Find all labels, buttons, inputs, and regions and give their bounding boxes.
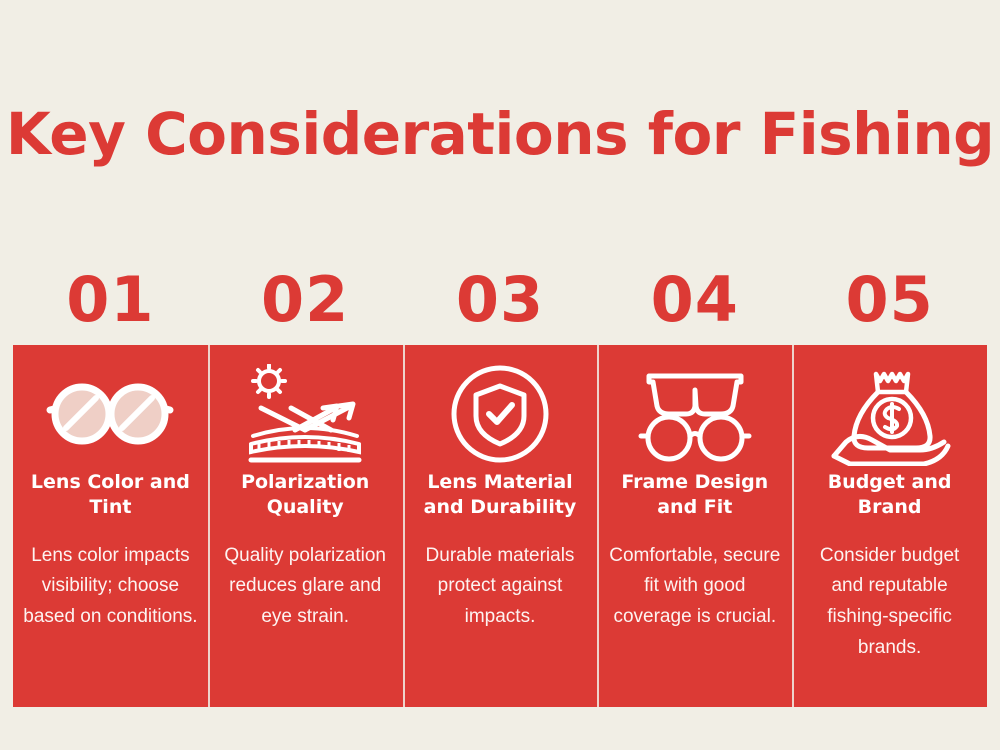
two-eyeglass-frames-icon xyxy=(625,362,765,466)
card-number-05: 05 xyxy=(792,264,987,336)
card-number-02: 02 xyxy=(208,264,403,336)
card-number-04: 04 xyxy=(597,264,792,336)
card-lens-color-and-tint[interactable]: Lens Color and Tint Lens color impacts v… xyxy=(13,345,208,707)
card-lens-material-and-durability[interactable]: Lens Material and Durability Durable mat… xyxy=(403,345,598,707)
card-body: Lens color impacts visibility; choose ba… xyxy=(23,541,198,633)
card-title: Lens Material and Durability xyxy=(413,470,588,521)
card-number-03: 03 xyxy=(403,264,598,336)
card-title: Frame Design and Fit xyxy=(607,470,782,521)
shield-check-circle-icon xyxy=(448,362,552,466)
card-body: Quality polarization reduces glare and e… xyxy=(218,541,393,633)
card-title: Lens Color and Tint xyxy=(23,470,198,521)
page-title: Key Considerations for Fishing xyxy=(0,104,1000,165)
card-body: Consider budget and reputable fishing-sp… xyxy=(802,541,977,664)
infographic-page: Key Considerations for Fishing 01 02 03 … xyxy=(0,0,1000,750)
money-bag-in-hand-icon xyxy=(820,362,960,466)
card-polarization-quality[interactable]: Polarization Quality Quality polarizatio… xyxy=(208,345,403,707)
card-number-01: 01 xyxy=(13,264,208,336)
card-budget-and-brand[interactable]: Budget and Brand Consider budget and rep… xyxy=(792,345,987,707)
sun-reflection-polarization-icon xyxy=(235,362,375,466)
card-body: Comfortable, secure fit with good covera… xyxy=(607,541,782,633)
card-body: Durable materials protect against impact… xyxy=(413,541,588,633)
card-title: Polarization Quality xyxy=(218,470,393,521)
round-sunglasses-icon xyxy=(40,362,180,466)
card-band: Lens Color and Tint Lens color impacts v… xyxy=(13,345,987,707)
number-row: 01 02 03 04 05 xyxy=(13,264,987,336)
card-title: Budget and Brand xyxy=(802,470,977,521)
card-frame-design-and-fit[interactable]: Frame Design and Fit Comfortable, secure… xyxy=(597,345,792,707)
